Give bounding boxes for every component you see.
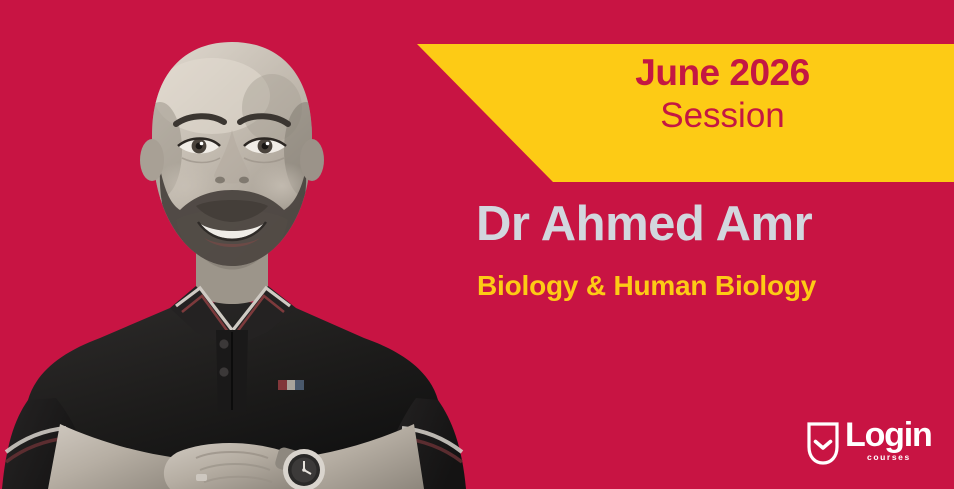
logo-wordmark: Login courses [845,420,931,470]
login-courses-logo[interactable]: Login courses [806,420,932,472]
presenter-subject: Biology & Human Biology [477,272,816,300]
session-label: Session [491,98,954,135]
promo-banner-canvas: June 2026 Session Dr Ahmed Amr Biology &… [0,0,954,489]
month-year-label: June 2026 [491,54,954,93]
presenter-name: Dr Ahmed Amr [476,200,812,249]
shield-chevron-icon [806,421,840,466]
logo-sub: courses [867,453,911,462]
session-banner-text: June 2026 Session [417,44,954,182]
logo-name: Login [845,418,932,452]
